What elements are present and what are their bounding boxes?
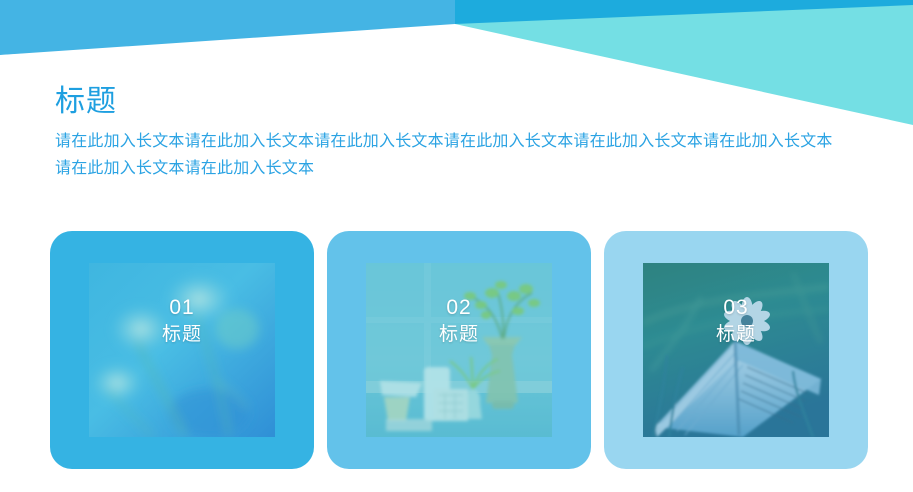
- heading-block: 标题 请在此加入长文本请在此加入长文本请在此加入长文本请在此加入长文本请在此加入…: [55, 84, 855, 182]
- content-card-01[interactable]: 01 标题: [50, 231, 314, 469]
- cards-row: 01 标题: [50, 231, 868, 469]
- body-paragraph: 请在此加入长文本请在此加入长文本请在此加入长文本请在此加入长文本请在此加入长文本…: [55, 128, 845, 182]
- open-book-daisy-photo-art: [643, 263, 829, 437]
- vase-plants-stilllife-photo: [366, 263, 552, 437]
- content-card-02[interactable]: 02 标题: [327, 231, 591, 469]
- vase-plants-stilllife-photo-art: [366, 263, 552, 437]
- slide-canvas: 标题 请在此加入长文本请在此加入长文本请在此加入长文本请在此加入长文本请在此加入…: [0, 0, 913, 492]
- page-title: 标题: [55, 84, 855, 120]
- dandelion-flowers-photo: [89, 263, 275, 437]
- content-card-03[interactable]: 03 标题: [604, 231, 868, 469]
- open-book-daisy-photo: [643, 263, 829, 437]
- dandelion-flowers-photo-art: [89, 263, 275, 437]
